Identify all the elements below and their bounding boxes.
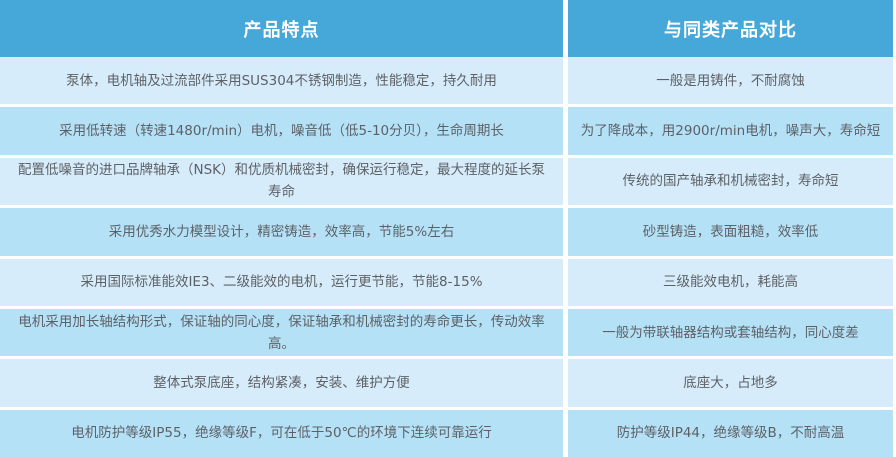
table-row: 配置低噪音的进口品牌轴承（NSK）和优质机械密封，确保运行稳定，最大程度的延长泵… (0, 158, 896, 208)
table-row: 采用低转速（转速1480r/min）电机，噪音低（低5-10分贝），生命周期长 … (0, 107, 896, 157)
cell-comparison-text: 三级能效电机，耗能高 (663, 271, 798, 293)
cell-comparison-text: 一般为带联轴器结构或套轴结构，同心度差 (602, 322, 859, 344)
cell-features: 采用低转速（转速1480r/min）电机，噪音低（低5-10分贝），生命周期长 (0, 107, 563, 154)
cell-comparison-text: 传统的国产轴承和机械密封，寿命短 (623, 170, 839, 192)
table-row: 电机防护等级IP55，绝缘等级F，可在低于50℃的环境下连续可靠运行 防护等级I… (0, 410, 896, 457)
cell-comparison: 底座大，占地多 (568, 359, 893, 406)
cell-features: 采用国际标准能效IE3、二级能效的电机，运行更节能，节能8-15% (0, 259, 563, 306)
cell-comparison-text: 底座大，占地多 (683, 372, 778, 394)
column-header-comparison: 与同类产品对比 (568, 0, 893, 57)
cell-features-text: 采用低转速（转速1480r/min）电机，噪音低（低5-10分贝），生命周期长 (59, 120, 504, 142)
cell-comparison: 三级能效电机，耗能高 (568, 259, 893, 306)
column-header-features-label: 产品特点 (244, 16, 320, 42)
cell-features-text: 电机采用加长轴结构形式，保证轴的同心度，保证轴承和机械密封的寿命更长，传动效率高… (12, 311, 551, 355)
cell-comparison: 防护等级IP44，绝缘等级B，不耐高温 (568, 410, 893, 457)
cell-features: 整体式泵底座，结构紧凑，安装、维护方便 (0, 359, 563, 406)
cell-comparison: 砂型铸造，表面粗糙，效率低 (568, 208, 893, 255)
cell-comparison: 一般为带联轴器结构或套轴结构，同心度差 (568, 309, 893, 356)
cell-comparison-text: 为了降成本，用2900r/min电机，噪声大，寿命短 (581, 120, 880, 142)
product-comparison-table: 产品特点 与同类产品对比 泵体，电机轴及过流部件采用SUS304不锈钢制造，性能… (0, 0, 896, 457)
cell-features-text: 整体式泵底座，结构紧凑，安装、维护方便 (153, 372, 410, 394)
cell-features-text: 泵体，电机轴及过流部件采用SUS304不锈钢制造，性能稳定，持久耐用 (66, 70, 497, 92)
table-body: 泵体，电机轴及过流部件采用SUS304不锈钢制造，性能稳定，持久耐用 一般是用铸… (0, 57, 896, 457)
cell-comparison-text: 防护等级IP44，绝缘等级B，不耐高温 (617, 422, 845, 444)
table-row: 整体式泵底座，结构紧凑，安装、维护方便 底座大，占地多 (0, 359, 896, 409)
table-row: 电机采用加长轴结构形式，保证轴的同心度，保证轴承和机械密封的寿命更长，传动效率高… (0, 309, 896, 359)
cell-features: 采用优秀水力模型设计，精密铸造，效率高，节能5%左右 (0, 208, 563, 255)
cell-features: 电机采用加长轴结构形式，保证轴的同心度，保证轴承和机械密封的寿命更长，传动效率高… (0, 309, 563, 356)
table-row: 泵体，电机轴及过流部件采用SUS304不锈钢制造，性能稳定，持久耐用 一般是用铸… (0, 57, 896, 107)
cell-features: 泵体，电机轴及过流部件采用SUS304不锈钢制造，性能稳定，持久耐用 (0, 57, 563, 104)
cell-features-text: 配置低噪音的进口品牌轴承（NSK）和优质机械密封，确保运行稳定，最大程度的延长泵… (12, 159, 551, 203)
cell-comparison: 传统的国产轴承和机械密封，寿命短 (568, 158, 893, 205)
table-row: 采用优秀水力模型设计，精密铸造，效率高，节能5%左右 砂型铸造，表面粗糙，效率低 (0, 208, 896, 258)
cell-comparison: 为了降成本，用2900r/min电机，噪声大，寿命短 (568, 107, 893, 154)
table-header-row: 产品特点 与同类产品对比 (0, 0, 896, 57)
cell-features: 电机防护等级IP55，绝缘等级F，可在低于50℃的环境下连续可靠运行 (0, 410, 563, 457)
cell-features-text: 采用优秀水力模型设计，精密铸造，效率高，节能5%左右 (109, 221, 454, 243)
cell-comparison-text: 一般是用铸件，不耐腐蚀 (656, 70, 805, 92)
table-row: 采用国际标准能效IE3、二级能效的电机，运行更节能，节能8-15% 三级能效电机… (0, 259, 896, 309)
cell-features-text: 电机防护等级IP55，绝缘等级F，可在低于50℃的环境下连续可靠运行 (71, 422, 491, 444)
cell-features: 配置低噪音的进口品牌轴承（NSK）和优质机械密封，确保运行稳定，最大程度的延长泵… (0, 158, 563, 205)
cell-comparison-text: 砂型铸造，表面粗糙，效率低 (643, 221, 819, 243)
cell-features-text: 采用国际标准能效IE3、二级能效的电机，运行更节能，节能8-15% (80, 271, 482, 293)
column-header-comparison-label: 与同类产品对比 (664, 16, 797, 42)
column-header-features: 产品特点 (0, 0, 563, 57)
cell-comparison: 一般是用铸件，不耐腐蚀 (568, 57, 893, 104)
